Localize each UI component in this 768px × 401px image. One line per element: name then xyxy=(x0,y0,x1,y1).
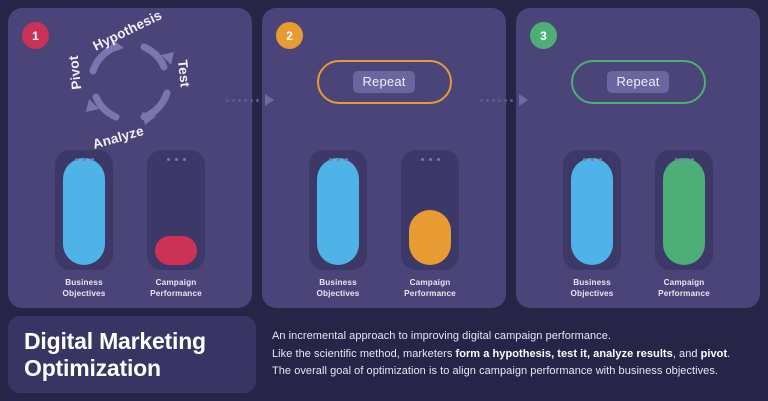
bar-fill xyxy=(571,158,613,265)
bar-label-line2: Performance xyxy=(150,288,202,300)
panel-2-bar-chart: Business Objectives Campaign Performance xyxy=(262,150,506,300)
repeat-pill-orange: Repeat xyxy=(317,60,452,104)
dots-icon xyxy=(563,158,621,161)
bar-track xyxy=(55,150,113,270)
page-title-line2: Optimization xyxy=(24,355,161,381)
description-text: Like the scientific method, marketers xyxy=(272,348,455,360)
dots-icon xyxy=(401,158,459,161)
bar-label-line2: Performance xyxy=(404,288,456,300)
description-text: . xyxy=(727,348,730,360)
infographic-canvas: 1 xyxy=(0,0,768,401)
arrowhead-icon xyxy=(519,94,528,106)
repeat-label: Repeat xyxy=(607,71,668,93)
bar-fill xyxy=(155,236,197,265)
bar-label: Business Objectives xyxy=(63,277,106,300)
bar-campaign-performance: Campaign Performance xyxy=(143,150,209,300)
dots-icon xyxy=(147,158,205,161)
bar-label-line2: Performance xyxy=(658,288,710,300)
bar-business-objectives: Business Objectives xyxy=(305,150,371,300)
connector-arrow-2-to-3 xyxy=(480,94,536,106)
bar-label: Business Objectives xyxy=(571,277,614,300)
bar-track xyxy=(655,150,713,270)
bar-track xyxy=(563,150,621,270)
description-line-3: The overall goal of optimization is to a… xyxy=(272,363,760,381)
description-block: An incremental approach to improving dig… xyxy=(256,316,760,393)
footer-section: Digital Marketing Optimization An increm… xyxy=(0,308,768,401)
bar-business-objectives: Business Objectives xyxy=(559,150,625,300)
dots-icon xyxy=(55,158,113,161)
panel-2-top-zone: Repeat xyxy=(262,16,506,148)
description-line-2: Like the scientific method, marketers fo… xyxy=(272,346,760,364)
bar-label-line2: Objectives xyxy=(63,288,106,300)
bar-track xyxy=(309,150,367,270)
bar-fill xyxy=(663,158,705,265)
bar-fill xyxy=(317,158,359,265)
iteration-cycle-diagram: Hypothesis Test Analyze Pivot xyxy=(66,19,194,145)
panel-1-top-zone: Hypothesis Test Analyze Pivot xyxy=(8,16,252,148)
bar-label-line1: Campaign xyxy=(150,277,202,289)
page-title: Digital Marketing Optimization xyxy=(24,328,256,381)
description-bold-text: pivot xyxy=(701,348,728,360)
bar-fill xyxy=(409,210,451,265)
bar-label-line1: Business xyxy=(63,277,106,289)
description-bold-text: form a hypothesis, test it, analyze resu… xyxy=(455,348,672,360)
bar-track xyxy=(401,150,459,270)
bar-label-line2: Objectives xyxy=(317,288,360,300)
dots-icon xyxy=(309,158,367,161)
connector-arrow-1-to-2 xyxy=(226,94,282,106)
title-card: Digital Marketing Optimization xyxy=(8,316,256,393)
page-title-line1: Digital Marketing xyxy=(24,328,206,354)
bar-label-line1: Business xyxy=(317,277,360,289)
bar-track xyxy=(147,150,205,270)
stage-panel-3: 3 Repeat Business Objectives xyxy=(516,8,760,308)
bar-campaign-performance: Campaign Performance xyxy=(397,150,463,300)
bar-label-line2: Objectives xyxy=(571,288,614,300)
bar-label: Campaign Performance xyxy=(404,277,456,300)
description-line-1: An incremental approach to improving dig… xyxy=(272,328,760,346)
bar-label: Campaign Performance xyxy=(658,277,710,300)
stage-panels: 1 xyxy=(0,0,768,308)
arrowhead-icon xyxy=(265,94,274,106)
bar-label-line1: Campaign xyxy=(658,277,710,289)
bar-campaign-performance: Campaign Performance xyxy=(651,150,717,300)
bar-business-objectives: Business Objectives xyxy=(51,150,117,300)
bar-label-line1: Campaign xyxy=(404,277,456,289)
repeat-pill-green: Repeat xyxy=(571,60,706,104)
stage-panel-2: 2 Repeat Business Objectives xyxy=(262,8,506,308)
bar-fill xyxy=(63,158,105,265)
description-text: , and xyxy=(673,348,701,360)
stage-panel-1: 1 xyxy=(8,8,252,308)
panel-1-bar-chart: Business Objectives Campaign Performance xyxy=(8,150,252,300)
bar-label: Campaign Performance xyxy=(150,277,202,300)
panel-3-top-zone: Repeat xyxy=(516,16,760,148)
dots-icon xyxy=(655,158,713,161)
panel-3-bar-chart: Business Objectives Campaign Performance xyxy=(516,150,760,300)
bar-label: Business Objectives xyxy=(317,277,360,300)
repeat-label: Repeat xyxy=(353,71,414,93)
bar-label-line1: Business xyxy=(571,277,614,289)
